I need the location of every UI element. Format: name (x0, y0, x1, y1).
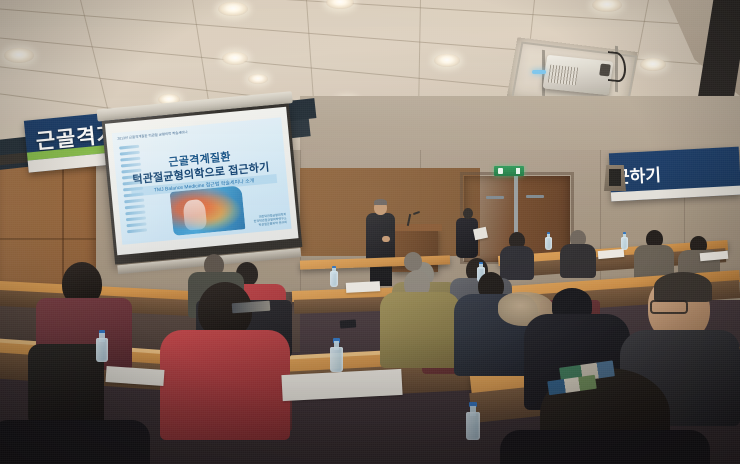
door-handle[interactable] (486, 196, 504, 199)
seminar-room-photo: 근골격겨 근하기 2013년 근골격계질환 턱관절 균형의학 학술세미나 (0, 0, 740, 464)
anatomy-illustration-icon (170, 185, 246, 236)
water-bottle (330, 266, 338, 287)
projector-vent (548, 65, 579, 86)
ceiling-downlight (592, 0, 622, 12)
mobile-phone (340, 319, 357, 328)
ceiling-downlight (640, 58, 666, 71)
standing-attendee-head (463, 208, 473, 219)
eyeglasses-icon (650, 300, 688, 314)
ceiling-downlight (222, 52, 248, 65)
presentation-slide: 2013년 근골격계질환 턱관절 균형의학 학술세미나 근골격계질환 턱관절균형… (112, 117, 292, 245)
anatomy-illustration-overlay (183, 199, 208, 231)
attendee-body (560, 244, 596, 278)
water-bottle (621, 232, 628, 250)
attendee-shoulder-foreground-left (0, 420, 150, 464)
exit-sign-icon (494, 166, 524, 176)
speaker-grill (609, 169, 621, 186)
attendee-body-foreground (500, 430, 710, 464)
ceiling-downlight (218, 2, 248, 16)
wood-panel-seam (0, 238, 96, 240)
slide-header-text: 2013년 근골격계질환 턱관절 균형의학 학술세미나 (117, 129, 188, 141)
ceiling-downlight (4, 48, 34, 63)
water-bottle (96, 330, 108, 362)
water-bottle (466, 402, 480, 440)
door-handle[interactable] (526, 195, 544, 198)
presenter-hand (382, 236, 390, 242)
attendee-bag (28, 344, 104, 430)
screen-surface: 2013년 근골격계질환 턱관절 균형의학 학술세미나 근골격계질환 턱관절균형… (105, 107, 299, 256)
ceiling-downlight (434, 54, 460, 67)
attendee-hair (654, 272, 712, 302)
lectern-top (388, 224, 442, 231)
banner-right: 근하기 (609, 147, 740, 202)
slide-credit-text: 대한턱관절균형의학회 한국턱관절균형의학연구소 턱관절균형의학 연구회 (253, 212, 287, 227)
attendee-body-khaki (380, 292, 460, 368)
attendee-body-red-foreground (160, 330, 290, 440)
attendee-head (404, 252, 422, 271)
ceiling-downlight (248, 74, 268, 84)
water-bottle (545, 232, 552, 250)
ceiling-downlight (326, 0, 354, 9)
presenter-hair (374, 199, 387, 205)
handout-paper (346, 281, 380, 293)
projection-screen: 2013년 근골격계질환 턱관절 균형의학 학술세미나 근골격계질환 턱관절균형… (101, 99, 302, 268)
ceiling-strip-light (532, 70, 546, 74)
attendee-body (500, 246, 534, 280)
water-bottle (330, 338, 343, 372)
